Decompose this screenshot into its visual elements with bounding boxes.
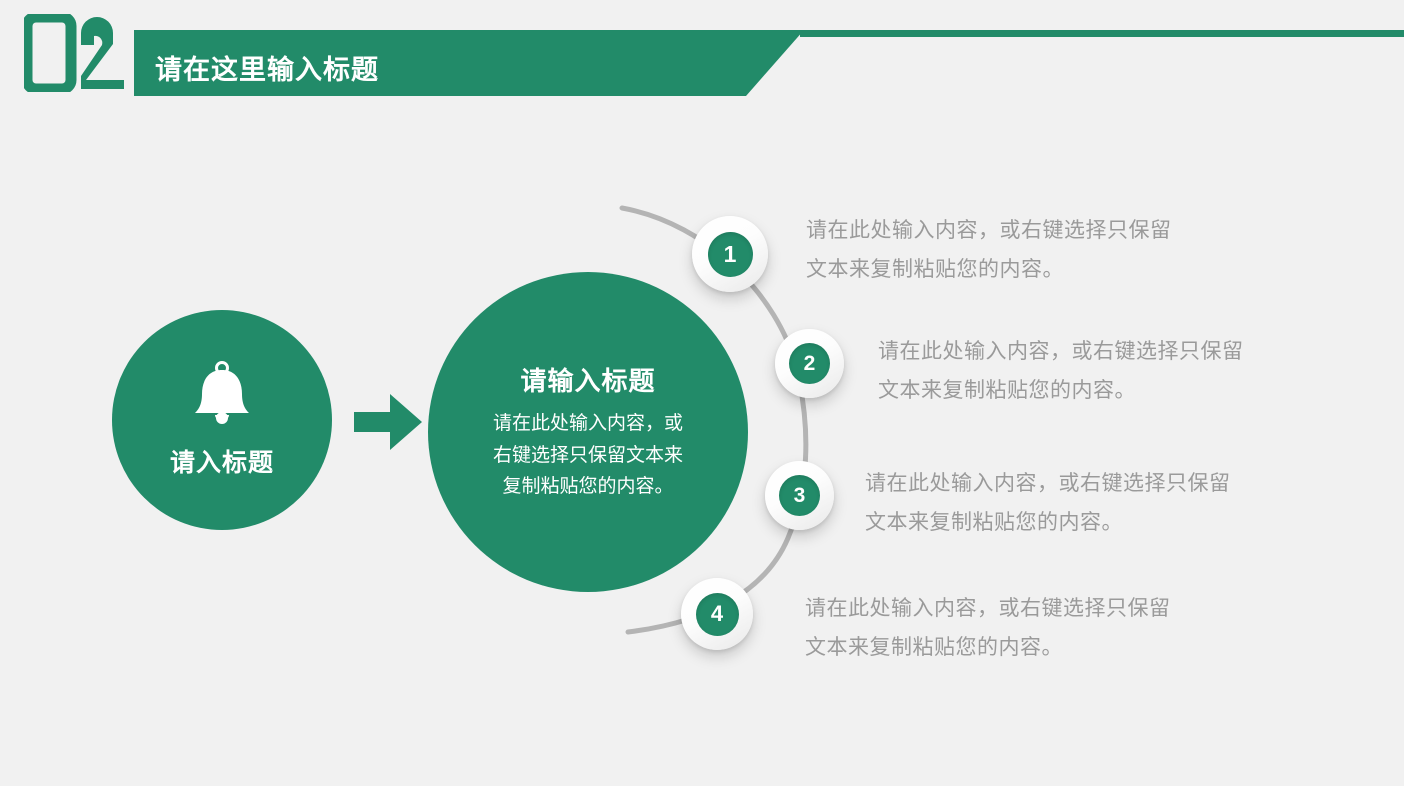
left-circle-label: 请入标题 (170, 443, 274, 479)
step-marker-1-number: 1 (708, 232, 753, 277)
section-number-02 (24, 14, 134, 92)
step-marker-2-number: 2 (789, 343, 830, 384)
center-circle-body: 请在此处输入内容，或 右键选择只保留文本来 复制粘贴您的内容。 (493, 408, 683, 502)
center-circle-title: 请输入标题 (520, 361, 655, 398)
slide-canvas: 请在这里输入标题 请入标题 请输入标题 请在此处输入内容，或 右键选择只保留文本 (0, 0, 1404, 786)
step-text-line: 文本来复制粘贴您的内容。 (806, 251, 1276, 290)
right-arrow-icon (352, 386, 424, 458)
center-body-line: 右键选择只保留文本来 (493, 440, 683, 471)
step-text-line: 请在此处输入内容，或右键选择只保留 (805, 590, 1275, 629)
step-text-4: 请在此处输入内容，或右键选择只保留 文本来复制粘贴您的内容。 (805, 590, 1275, 668)
step-text-line: 请在此处输入内容，或右键选择只保留 (878, 333, 1348, 372)
bell-icon (191, 361, 253, 427)
step-text-2: 请在此处输入内容，或右键选择只保留 文本来复制粘贴您的内容。 (878, 333, 1348, 411)
header-rule (800, 30, 1404, 37)
step-marker-3-number: 3 (779, 475, 820, 516)
step-marker-1[interactable]: 1 (692, 216, 768, 292)
step-text-line: 文本来复制粘贴您的内容。 (878, 372, 1348, 411)
center-body-line: 请在此处输入内容，或 (493, 408, 683, 439)
step-text-line: 请在此处输入内容，或右键选择只保留 (865, 465, 1335, 504)
page-title: 请在这里输入标题 (155, 48, 379, 87)
step-text-line: 文本来复制粘贴您的内容。 (865, 504, 1335, 543)
left-feature-circle[interactable]: 请入标题 (112, 310, 332, 530)
center-body-line: 复制粘贴您的内容。 (493, 471, 683, 502)
step-marker-2[interactable]: 2 (775, 329, 844, 398)
step-text-3: 请在此处输入内容，或右键选择只保留 文本来复制粘贴您的内容。 (865, 465, 1335, 543)
step-text-1: 请在此处输入内容，或右键选择只保留 文本来复制粘贴您的内容。 (806, 212, 1276, 290)
step-marker-3[interactable]: 3 (765, 461, 834, 530)
center-feature-circle[interactable]: 请输入标题 请在此处输入内容，或 右键选择只保留文本来 复制粘贴您的内容。 (428, 272, 748, 592)
step-marker-4[interactable]: 4 (681, 578, 753, 650)
step-marker-4-number: 4 (696, 593, 739, 636)
step-text-line: 文本来复制粘贴您的内容。 (805, 629, 1275, 668)
step-text-line: 请在此处输入内容，或右键选择只保留 (806, 212, 1276, 251)
